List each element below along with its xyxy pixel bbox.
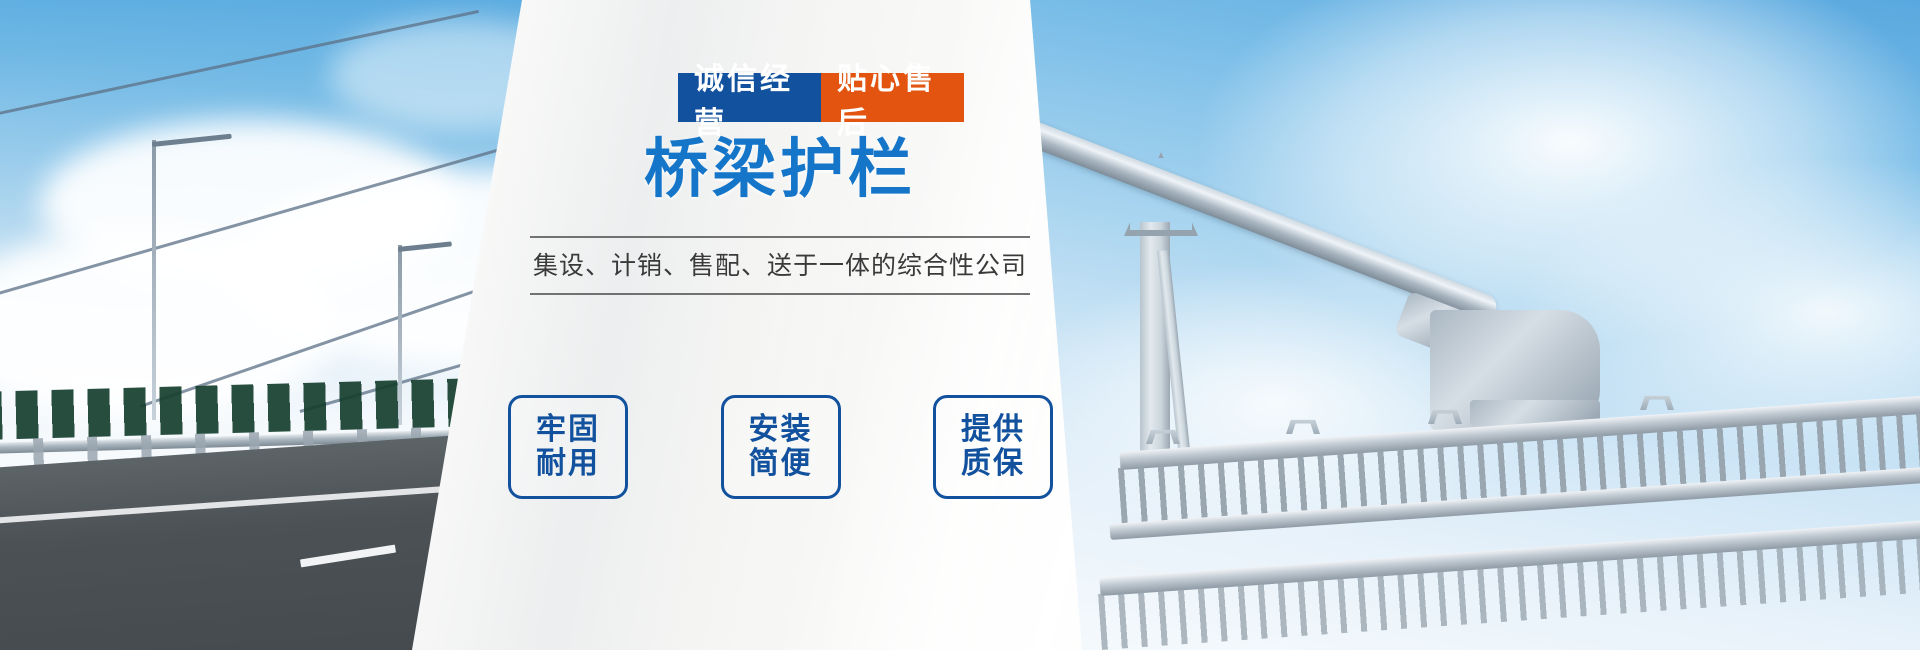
feature-badge-easy-install: 安装 简便: [721, 395, 841, 499]
feature-line-1: 牢固: [536, 413, 600, 447]
tagline-badges: 诚信经营 贴心售后: [678, 73, 964, 122]
badge-aftersales: 贴心售后: [821, 73, 964, 122]
right-bridge-photo: [1000, 0, 1920, 650]
feature-line-1: 安装: [749, 413, 813, 447]
feature-line-1: 提供: [961, 413, 1025, 447]
light-pole: [152, 140, 156, 420]
feature-badge-list: 牢固 耐用 安装 简便 提供 质保: [508, 395, 1053, 499]
feature-badge-warranty: 提供 质保: [933, 395, 1053, 499]
subtitle-block: 集设、计销、售配、送于一体的综合性公司: [500, 236, 1060, 295]
divider-bottom: [530, 293, 1030, 295]
banner-title: 桥梁护栏: [500, 137, 1060, 201]
feature-line-2: 简便: [749, 447, 813, 481]
feature-line-2: 质保: [961, 447, 1025, 481]
banner-content: 诚信经营 贴心售后 桥梁护栏 集设、计销、售配、送于一体的综合性公司 牢固 耐用…: [500, 0, 1060, 650]
feature-badge-durable: 牢固 耐用: [508, 395, 628, 499]
divider-top: [530, 236, 1030, 238]
badge-integrity: 诚信经营: [678, 73, 821, 122]
banner-subtitle: 集设、计销、售配、送于一体的综合性公司: [500, 238, 1060, 293]
feature-line-2: 耐用: [536, 447, 600, 481]
promo-banner: 诚信经营 贴心售后 桥梁护栏 集设、计销、售配、送于一体的综合性公司 牢固 耐用…: [0, 0, 1920, 650]
